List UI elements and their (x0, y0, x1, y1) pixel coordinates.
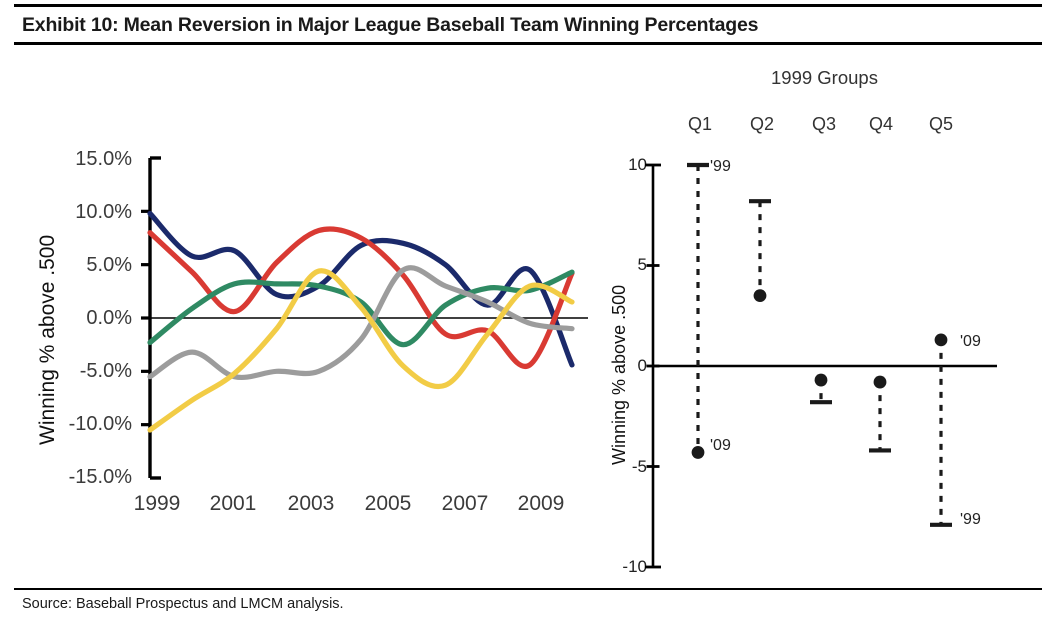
page-title: Exhibit 10: Mean Reversion in Major Leag… (22, 10, 1032, 40)
exhibit-container: Exhibit 10: Mean Reversion in Major Leag… (0, 0, 1056, 626)
left-chart-series-group (150, 213, 572, 430)
footer-divider (14, 588, 1042, 590)
range-chart-panel: 1999 Groups Q1 Q2 Q3 Q4 Q5 Winning % abo… (585, 45, 1056, 585)
line-series-q2 (150, 229, 572, 367)
top-divider (14, 4, 1042, 7)
range-2009-dot-q5 (935, 333, 948, 346)
range-2009-dot-q2 (754, 289, 767, 302)
range-2009-dot-q4 (874, 376, 887, 389)
source-note: Source: Baseball Prospectus and LMCM ana… (22, 596, 344, 612)
line-chart-panel: Winning % above .500 15.0% 10.0% 5.0% 0.… (0, 45, 600, 585)
range-chart-plot (585, 45, 1056, 585)
range-2009-dot-q3 (815, 374, 828, 387)
range-chart-series-group (687, 165, 952, 525)
line-chart-plot (0, 45, 600, 585)
range-2009-dot-q1 (692, 446, 705, 459)
